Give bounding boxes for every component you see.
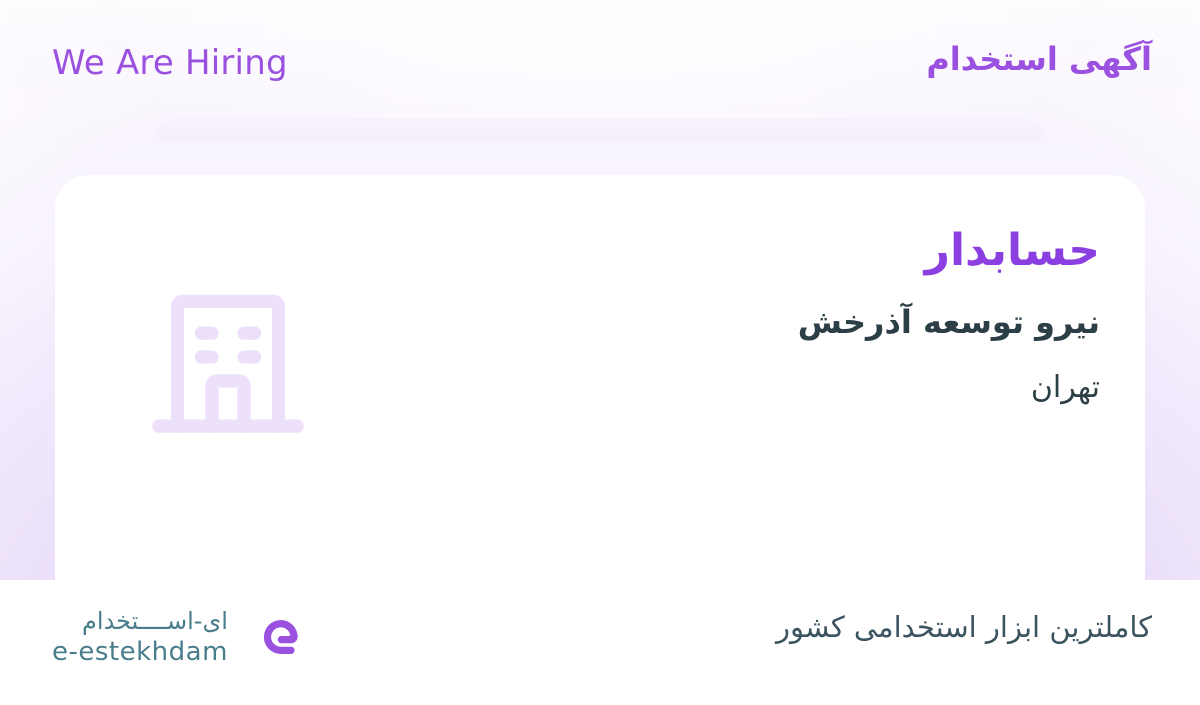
footer-bar: کاملترین ابزار استخدامی کشور ای-اســــتخ… xyxy=(0,580,1200,705)
e-logo-icon xyxy=(244,606,306,668)
hero-title-english: We Are Hiring xyxy=(52,43,288,83)
hero-background: We Are Hiring آگهی استخدام xyxy=(0,0,1200,580)
brand-logo[interactable]: ای-اســــتخدام e-estekhdam xyxy=(52,606,306,668)
building-icon xyxy=(143,280,313,450)
job-card[interactable]: حسابدار نیرو توسعه آذرخش تهران xyxy=(55,175,1145,580)
hero-title-persian: آگهی استخدام xyxy=(926,40,1152,78)
job-ad-poster: We Are Hiring آگهی استخدام xyxy=(0,0,1200,705)
company-name: نیرو توسعه آذرخش xyxy=(798,302,1100,344)
job-card-inner: حسابدار نیرو توسعه آذرخش تهران xyxy=(55,175,1145,580)
brand-name-persian: ای-اســــتخدام xyxy=(82,609,228,633)
job-location: تهران xyxy=(798,368,1100,407)
job-info: حسابدار نیرو توسعه آذرخش تهران xyxy=(798,223,1100,407)
brand-wordmark: ای-اســــتخدام e-estekhdam xyxy=(52,609,228,665)
brand-name-english: e-estekhdam xyxy=(52,639,228,665)
job-title: حسابدار xyxy=(798,223,1100,278)
footer-slogan: کاملترین ابزار استخدامی کشور xyxy=(776,610,1152,644)
